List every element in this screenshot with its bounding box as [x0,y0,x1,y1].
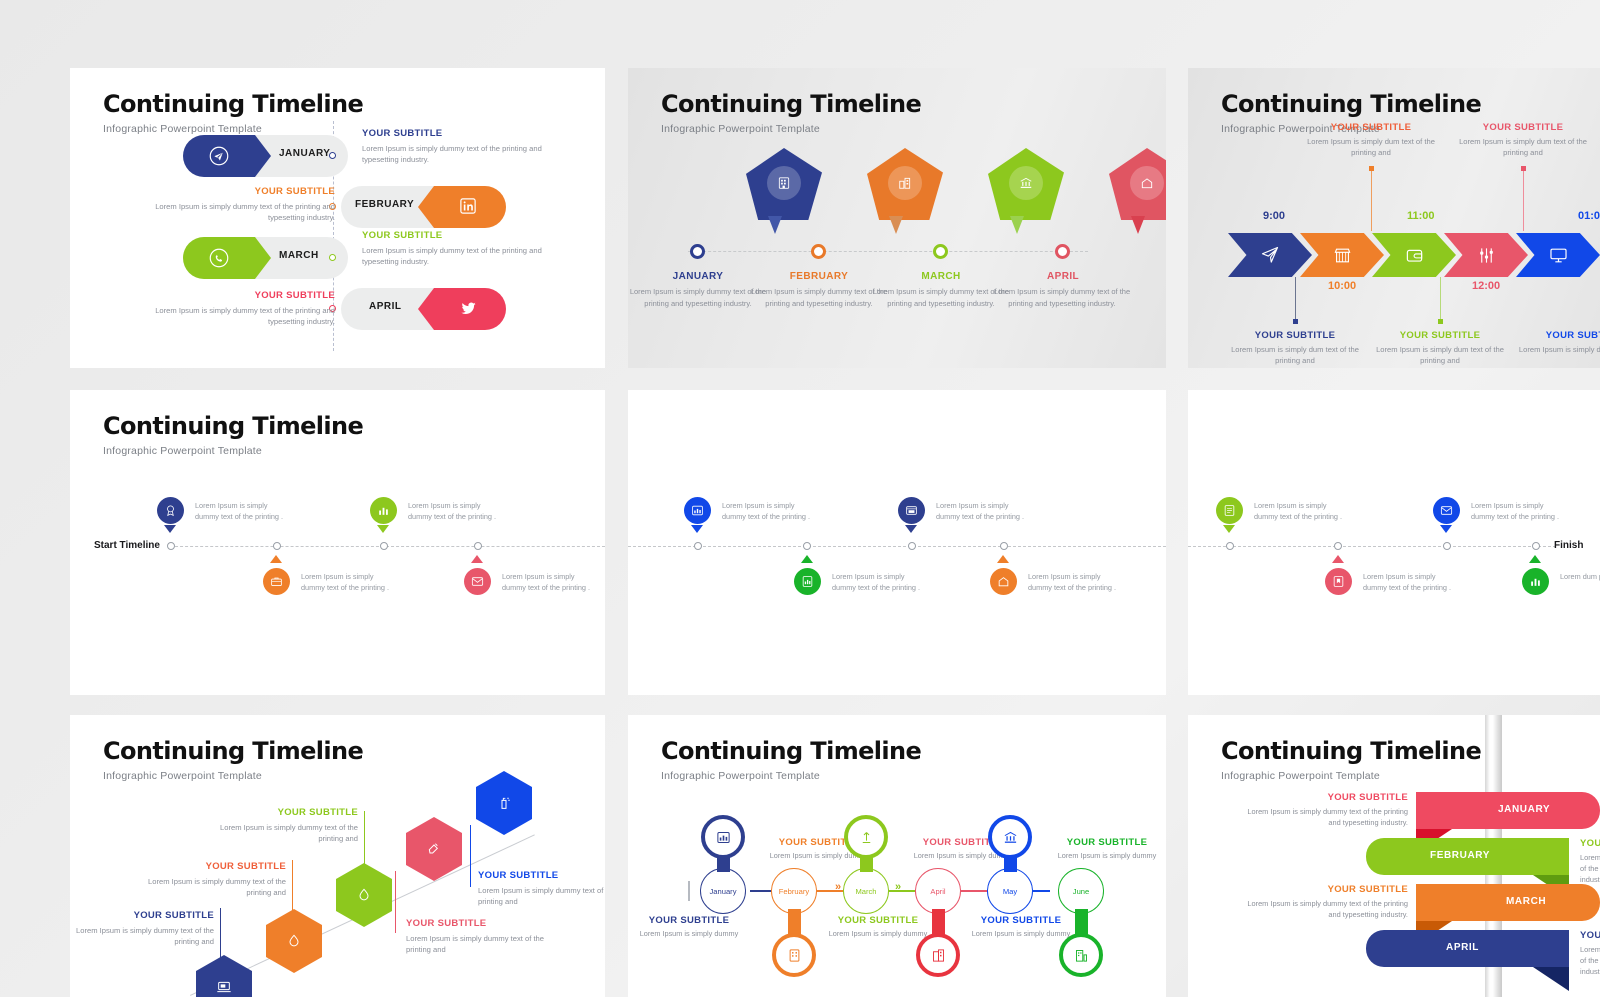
pin-text: Lorem Ipsum is simply dummy text of the … [1028,571,1120,594]
page-title: Continuing Timeline [1221,90,1481,118]
bookmark-icon [1332,575,1345,588]
text-block-3: YOUR SUBTITLE Lorem Ipsum is simply dum … [1365,330,1515,367]
row-january[interactable]: JANUARY [183,135,348,177]
chart-bars-icon [1074,948,1089,963]
badge-march[interactable] [844,815,888,859]
chevron-step-2[interactable] [1300,233,1384,277]
connector-stem-4 [1523,169,1524,231]
month-circle-january[interactable]: January [700,868,746,914]
pentagon-icon-circle [888,166,922,200]
text-block-february: YOUR SUBTITLE Lorem Ipsum is simply dumm… [1580,838,1600,885]
pin-pointer [905,525,917,533]
block-subtitle: YOUR SUBTITLE [629,915,749,926]
pin-orange[interactable] [263,568,290,595]
wallet-icon [1405,246,1424,265]
month-text: Lorem Ipsum is simply dummy text of the … [628,286,768,310]
linkedin-icon [459,197,479,217]
pin-pointer [691,525,703,533]
block-subtitle: YOUR SUBTITLE [1448,122,1598,133]
timeline-node[interactable] [933,244,948,259]
chain-arrow-3: » [895,881,901,893]
connector-dot-3 [1438,319,1443,324]
leader-2 [292,860,293,918]
start-timeline-label: Start Timeline [94,540,160,551]
month-name: MARCH [876,271,1006,282]
timeline-ring[interactable] [1226,542,1234,550]
pin-pointer [1223,525,1235,533]
time-label-4: 12:00 [1472,280,1500,292]
pin-pointer [1529,555,1541,563]
droplet-icon [356,887,372,903]
page-subtitle: Infographic Powerpoint Template [103,445,363,457]
slide-pill-timeline[interactable]: Continuing Timeline Infographic Powerpoi… [70,68,605,368]
page-title: Continuing Timeline [103,90,363,118]
page-subtitle: Infographic Powerpoint Template [103,770,363,782]
block-subtitle: YOUR SUBTITLE [1365,330,1515,341]
badge-icon [164,504,177,517]
pin-navy[interactable] [157,497,184,524]
text-block-3: YOUR SUBTITLE Lorem Ipsum is simply dumm… [198,807,358,845]
chevron-step-4[interactable] [1444,233,1528,277]
timeline-node[interactable] [811,244,826,259]
slide-chevron-timeline[interactable]: Continuing Timeline Infographic Powerpoi… [1188,68,1600,368]
building-icon [787,948,802,963]
badge-january[interactable] [701,815,745,859]
block-text: Lorem Ipsum is simply dummy text of the … [1238,898,1408,920]
office-icon [931,948,946,963]
slide2-header: Continuing Timeline Infographic Powerpoi… [661,90,921,135]
badge-february[interactable] [772,933,816,977]
ribbon-label-february: FEBRUARY [1430,850,1490,861]
block-text: Lorem Ipsum is simply dummy [818,929,938,940]
pentagon-icon-circle [767,166,801,200]
office-building-icon [777,176,791,190]
text-block-4: YOUR SUBTITLE Lorem Ipsum is simply dumm… [406,918,566,956]
whatsapp-icon [209,248,229,268]
city-buildings-icon [898,176,912,190]
pin-text: Lorem Ipsum is simply dummy text of the … [1254,500,1346,523]
block-text: Lorem Ipsum is simply dum text of the pr… [1296,136,1446,159]
home-icon [1140,176,1154,190]
pin-text: Lorem Ipsum is simply dummy text of the … [1471,500,1563,523]
leader-1 [220,908,221,963]
chain-cap-left [688,881,690,901]
block-text: Lorem Ipsum is simply dummy text of the … [125,201,335,224]
pin-red[interactable] [464,568,491,595]
timeline-base [628,546,1166,547]
block-text: Lorem Ipsum is simply dummy text of the … [1238,806,1408,828]
block-text: Lorem Ipsum is simply dummy text of the … [70,925,214,948]
pin-pointer [377,525,389,533]
block-subtitle: YOUR SUBTITLE [198,807,358,818]
block-subtitle: YOUR SUBTITLE [1238,884,1408,895]
pin-vivid-green[interactable] [1522,568,1549,595]
text-block-5: YOUR SUBTITLE Lorem Ipsum is simply dum … [1511,330,1600,355]
paint-icon [426,841,442,857]
text-block-4: YOUR SUBTITLE Lorem Ipsum is simply dum … [1448,122,1598,159]
pin-pointer [1440,525,1452,533]
text-block-march: YOUR SUBTITLE Lorem Ipsum is simply dumm… [1238,884,1408,920]
slide8-header: Continuing Timeline Infographic Powerpoi… [661,737,921,782]
connector-dot-4 [1521,166,1526,171]
spray-icon [496,795,512,811]
axis-node [329,152,336,159]
pin-text: Lorem dum prin [1560,571,1600,582]
page-subtitle: Infographic Powerpoint Template [1221,770,1481,782]
block-subtitle: YOUR SUBTITLE [1238,792,1408,803]
month-label: FEBRUARY [355,199,414,210]
timeline-ring[interactable] [694,542,702,550]
time-label-3: 11:00 [1407,210,1435,222]
block-subtitle: YOUR SUBTITLE [1580,930,1600,941]
bank-icon [1003,830,1018,845]
block-subtitle: YOUR SUBTITLE [125,290,335,301]
text-block-1: YOUR SUBTITLE Lorem Ipsum is simply dum … [1220,330,1370,367]
leader-3 [364,811,365,873]
month-label: APRIL [369,301,402,312]
pin-text: Lorem Ipsum is simply dummy text of the … [301,571,393,594]
time-label-2: 10:00 [1328,280,1356,292]
window-icon [905,504,918,517]
text-block-january: YOUR SUBTITLE Lorem Ipsum is simply dumm… [1238,792,1408,828]
pin-orange[interactable] [990,568,1017,595]
page-title: Continuing Timeline [103,412,363,440]
chevron-step-1[interactable] [1228,233,1312,277]
timeline-ring[interactable] [167,542,175,550]
chain-arrow-2: » [835,881,841,893]
timeline-ring[interactable] [474,542,482,550]
month-name: FEBRUARY [754,271,884,282]
page-title: Continuing Timeline [661,737,921,765]
bar-chart-icon [377,504,390,517]
pin-green[interactable] [794,568,821,595]
block-subtitle: YOUR SUBTITLE [1296,122,1446,133]
timeline-node[interactable] [690,244,705,259]
text-block-2: YOUR SUBTITLE Lorem Ipsum is simply dum … [1296,122,1446,159]
slide1-header: Continuing Timeline Infographic Powerpoi… [103,90,363,135]
row-april[interactable]: APRIL [341,288,506,330]
block-text: Lorem Ipsum is simply dummy text of the … [406,933,566,956]
telegram-icon [209,146,229,166]
row-march[interactable]: MARCH [183,237,348,279]
block-text: Lorem Ipsum is simply dummy text of the … [1580,944,1600,977]
pin-text: Lorem Ipsum is simply dummy text of the … [722,500,814,523]
droplet-icon [286,933,302,949]
text-block-february: YOUR SUBTITLE Lorem Ipsum is simply dumm… [125,186,335,224]
timeline-ring[interactable] [1532,542,1540,550]
document-icon [1223,504,1236,517]
store-icon [1333,246,1352,265]
page-subtitle: Infographic Powerpoint Template [661,770,921,782]
pin-pointer [997,555,1009,563]
pin-pointer [471,555,483,563]
hexagon-step-1[interactable] [196,955,252,997]
block-subtitle: YOUR SUBTITLE [362,230,572,241]
timeline-ring[interactable] [1000,542,1008,550]
connector-dot-2 [1369,166,1374,171]
block-subtitle: YOUR SUBTITLE [478,870,605,881]
pin-text: Lorem Ipsum is simply dummy text of the … [408,500,500,523]
paper-plane-icon [1260,245,1280,265]
slide-pentagon-timeline[interactable]: Continuing Timeline Infographic Powerpoi… [628,68,1166,368]
block-text: Lorem Ipsum is simply dum text of the pr… [1448,136,1598,159]
pin-text: Lorem Ipsum is simply dummy text of the … [936,500,1028,523]
block-text: Lorem Ipsum is simply dummy [1047,851,1166,862]
ribbon-label-january: JANUARY [1498,804,1550,815]
month-circle-february[interactable]: February [771,868,817,914]
text-block-february: YOUR SUBTITLE Lorem Ipsum is simply dumm… [629,915,749,940]
sliders-icon [1477,246,1496,265]
slide7-header: Continuing Timeline Infographic Powerpoi… [103,737,363,782]
text-block-2: YOUR SUBTITLE Lorem Ipsum is simply dumm… [126,861,286,899]
slide-ribbon-timeline[interactable]: Continuing Timeline Infographic Powerpoi… [1188,715,1600,997]
pin-pointer [801,555,813,563]
twitter-icon [459,299,479,319]
month-circle-march[interactable]: March [843,868,889,914]
text-block-1: YOUR SUBTITLE Lorem Ipsum is simply dumm… [70,910,214,948]
pin-blue[interactable] [684,497,711,524]
monitor-icon [1549,246,1568,265]
pentagon-tail [768,216,782,234]
timeline-base [1188,546,1556,547]
picture-chart-icon [691,504,704,517]
block-text: Lorem Ipsum is simply dummy text of the … [125,305,335,328]
pentagon-icon-circle [1130,166,1164,200]
block-subtitle: YOUR SUBTITLE [818,915,938,926]
slide-hexagon-timeline[interactable]: Continuing Timeline Infographic Powerpoi… [70,715,605,997]
pin-green[interactable] [1216,497,1243,524]
month-text: Lorem Ipsum is simply dummy text of the … [749,286,889,310]
finish-timeline-label: Finish [1554,540,1583,551]
pentagon-tail [1131,216,1145,234]
chevron-step-5[interactable] [1516,233,1600,277]
pin-pointer [1332,555,1344,563]
block-text: Lorem Ipsum is simply dum text of the pr… [1365,344,1515,367]
slide-pin-timeline-finish[interactable]: Finish Lorem Ipsum is simply dummy text … [1188,390,1600,695]
timeline-ring[interactable] [380,542,388,550]
briefcase-icon [270,575,283,588]
page-subtitle: Infographic Powerpoint Template [103,123,363,135]
block-subtitle: YOUR SUBTITLE [362,128,572,139]
timeline-line [688,251,1088,252]
mail-icon [471,575,484,588]
time-label-1: 9:00 [1263,210,1285,222]
pentagon-tail [889,216,903,234]
block-text: Lorem Ipsum is simply dum text of the pr… [1220,344,1370,367]
page-title: Continuing Timeline [661,90,921,118]
pin-pointer [164,525,176,533]
badge-may[interactable] [988,815,1032,859]
leader-5 [470,825,471,887]
time-label-5: 01:00 [1578,210,1600,222]
block-subtitle: YOUR SUBTITLE [406,918,566,929]
row-arrow [418,186,434,228]
picture-chart-icon [716,830,731,845]
pin-pointer [270,555,282,563]
block-text: Lorem Ipsum is simply dummy text of the … [1580,852,1600,885]
report-icon [801,575,814,588]
text-block-april: YOUR SUBTITLE Lorem Ipsum is simply dumm… [125,290,335,328]
pin-blue[interactable] [1433,497,1460,524]
block-subtitle: YOUR SUBTITLE [961,915,1081,926]
pentagon-icon-circle [1009,166,1043,200]
block-subtitle: YOUR SUBTITLE [70,910,214,921]
ribbon-label-march: MARCH [1506,896,1546,907]
page-title: Continuing Timeline [103,737,363,765]
text-block-may: YOUR SUBTITLE Lorem Ipsum is simply dumm… [1047,837,1166,862]
slide9-header: Continuing Timeline Infographic Powerpoi… [1221,737,1481,782]
home-icon [997,575,1010,588]
mail-icon [1440,504,1453,517]
bank-icon [1019,176,1033,190]
block-subtitle: YOUR SUBTITLE [1047,837,1166,848]
ribbon-fold-april [1533,967,1569,991]
slides-grid: Continuing Timeline Infographic Powerpoi… [0,0,1600,997]
chevron-step-3[interactable] [1372,233,1456,277]
text-block-january: YOUR SUBTITLE Lorem Ipsum is simply dumm… [362,128,572,166]
month-name: APRIL [998,271,1128,282]
block-text: Lorem Ipsum is simply dummy text of the … [362,245,572,268]
block-subtitle: YOUR SUBTITLE [125,186,335,197]
hexagon-step-5[interactable] [476,771,532,835]
text-block-march: YOUR SUBTITLE Lorem Ipsum is simply dumm… [362,230,572,268]
ribbon-label-april: APRIL [1446,942,1479,953]
upload-icon [859,830,874,845]
pin-green[interactable] [370,497,397,524]
row-arrow [255,135,271,177]
row-arrow [418,288,434,330]
timeline-ring[interactable] [1334,542,1342,550]
row-february[interactable]: FEBRUARY [341,186,506,228]
slide-pin-timeline-middle[interactable]: Lorem Ipsum is simply dummy text of the … [628,390,1166,695]
timeline-ring[interactable] [908,542,916,550]
pentagon-tail [1010,216,1024,234]
timeline-ring[interactable] [273,542,281,550]
block-subtitle: YOUR SUBTITLE [1220,330,1370,341]
text-block-april: YOUR SUBTITLE Lorem Ipsum is simply dumm… [1580,930,1600,977]
month-text: Lorem Ipsum is simply dummy text of the … [871,286,1011,310]
connector-stem-1 [1295,277,1296,321]
timeline-node[interactable] [1055,244,1070,259]
block-text: Lorem Ipsum is simply dummy text of the … [126,876,286,899]
slide-circle-chain-timeline[interactable]: Continuing Timeline Infographic Powerpoi… [628,715,1166,997]
pin-text: Lorem Ipsum is simply dummy text of the … [832,571,924,594]
month-label: JANUARY [279,148,330,159]
laptop-icon [216,979,232,995]
timeline-ring[interactable] [1443,542,1451,550]
text-block-may-lower: YOUR SUBTITLE Lorem Ipsum is simply dumm… [961,915,1081,940]
pin-navy[interactable] [898,497,925,524]
block-text: Lorem Ipsum is simply dummy text of the … [478,885,605,908]
hexagon-step-2[interactable] [266,909,322,973]
connector-stem-3 [1440,277,1441,321]
block-text: Lorem Ipsum is simply dummy [629,929,749,940]
slide4-header: Continuing Timeline Infographic Powerpoi… [103,412,363,457]
text-block-5: YOUR SUBTITLE Lorem Ipsum is simply dumm… [478,870,605,908]
month-label: MARCH [279,250,319,261]
page-title: Continuing Timeline [1221,737,1481,765]
month-name: JANUARY [633,271,763,282]
axis-node [329,254,336,261]
leader-4 [395,871,396,933]
month-circle-june[interactable]: June [1058,868,1104,914]
month-text: Lorem Ipsum is simply dummy text of the … [992,286,1132,310]
pin-text: Lorem Ipsum is simply dummy text of the … [502,571,594,594]
block-text: Lorem Ipsum is simply dummy text of the … [362,143,572,166]
row-arrow [255,237,271,279]
month-circle-april[interactable]: April [915,868,961,914]
page-subtitle: Infographic Powerpoint Template [661,123,921,135]
block-subtitle: YOUR SUBTITLE [1511,330,1600,341]
block-text: Lorem Ipsum is simply dummy text of the … [198,822,358,845]
pin-text: Lorem Ipsum is simply dummy text of the … [195,500,287,523]
block-text: Lorem Ipsum is simply dum text of the p [1511,344,1600,355]
block-text: Lorem Ipsum is simply dummy [961,929,1081,940]
pin-red[interactable] [1325,568,1352,595]
connector-dot-1 [1293,319,1298,324]
pin-text: Lorem Ipsum is simply dummy text of the … [1363,571,1455,594]
connector-stem-2 [1371,169,1372,231]
text-block-march-lower: YOUR SUBTITLE Lorem Ipsum is simply dumm… [818,915,938,940]
timeline-ring[interactable] [803,542,811,550]
block-subtitle: YOUR SUBTITLE [126,861,286,872]
month-circle-may[interactable]: May [987,868,1033,914]
bar-chart-icon [1529,575,1542,588]
block-subtitle: YOUR SUBTITLE [1580,838,1600,849]
slide-pin-timeline-start[interactable]: Continuing Timeline Infographic Powerpoi… [70,390,605,695]
